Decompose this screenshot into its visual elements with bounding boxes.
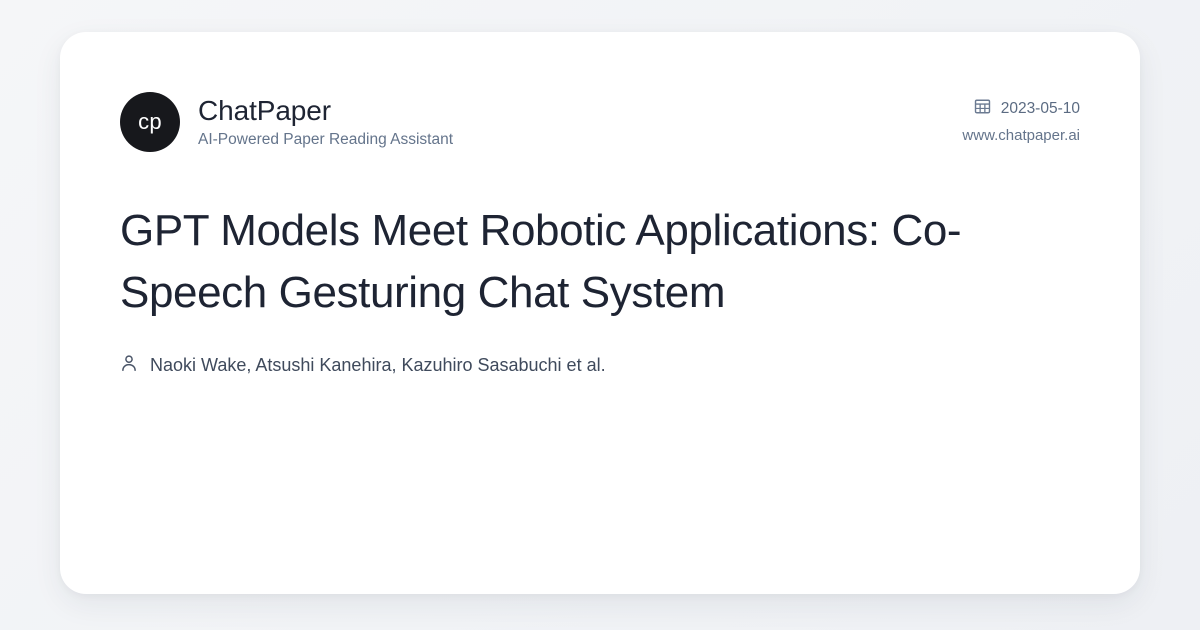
paper-title: GPT Models Meet Robotic Applications: Co… xyxy=(120,200,980,323)
calendar-icon xyxy=(974,98,991,119)
paper-authors-text: Naoki Wake, Atsushi Kanehira, Kazuhiro S… xyxy=(150,354,606,377)
page-background: cp ChatPaper AI-Powered Paper Reading As… xyxy=(0,0,1200,630)
meta-block: 2023-05-10 www.chatpaper.ai xyxy=(962,92,1080,143)
brand-text: ChatPaper AI-Powered Paper Reading Assis… xyxy=(198,94,453,149)
publication-date: 2023-05-10 xyxy=(974,98,1080,119)
paper-card: cp ChatPaper AI-Powered Paper Reading As… xyxy=(60,32,1140,594)
brand-tagline: AI-Powered Paper Reading Assistant xyxy=(198,130,453,149)
card-header: cp ChatPaper AI-Powered Paper Reading As… xyxy=(120,92,1080,152)
website-url[interactable]: www.chatpaper.ai xyxy=(962,128,1080,143)
person-icon xyxy=(120,354,138,377)
publication-date-text: 2023-05-10 xyxy=(1001,101,1080,117)
brand-name: ChatPaper xyxy=(198,94,453,127)
paper-authors: Naoki Wake, Atsushi Kanehira, Kazuhiro S… xyxy=(120,354,606,377)
avatar: cp xyxy=(120,92,180,152)
brand-block[interactable]: cp ChatPaper AI-Powered Paper Reading As… xyxy=(120,92,453,152)
